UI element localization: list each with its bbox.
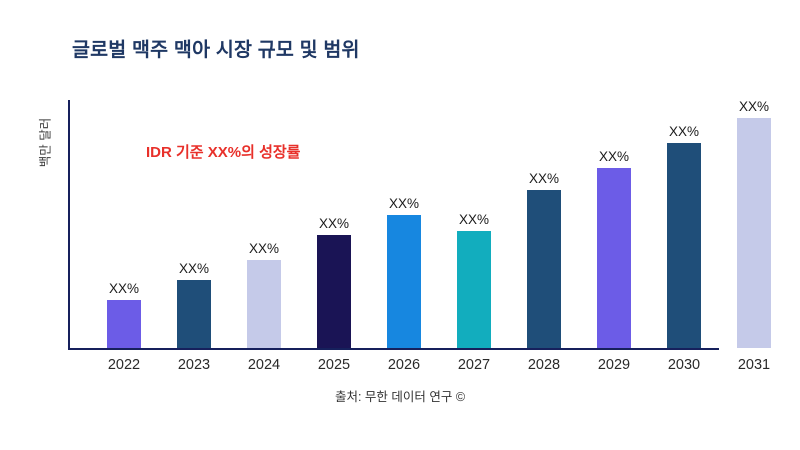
x-axis-label-2022: 2022	[89, 355, 159, 375]
bar-group: XX%	[649, 125, 719, 349]
x-axis-label-2028: 2028	[509, 355, 579, 375]
x-axis-label-2023: 2023	[159, 355, 229, 375]
bar-value-label: XX%	[179, 262, 209, 276]
bar-group: XX%	[579, 150, 649, 349]
bar-2029[interactable]	[597, 168, 631, 348]
x-axis-label-2029: 2029	[579, 355, 649, 375]
bar-group: XX%	[89, 282, 159, 349]
bar-value-label: XX%	[249, 242, 279, 256]
x-axis-label-2030: 2030	[649, 355, 719, 375]
bar-group: XX%	[439, 213, 509, 349]
x-axis-label-2026: 2026	[369, 355, 439, 375]
bar-2028[interactable]	[527, 190, 561, 348]
bar-value-label: XX%	[599, 150, 629, 164]
chart-container: 글로벌 맥주 맥아 시장 규모 및 범위 IDR 기준 XX%의 성장률 백만 …	[0, 0, 800, 450]
bar-2022[interactable]	[107, 300, 141, 348]
bar-2023[interactable]	[177, 280, 211, 348]
bar-2031[interactable]	[737, 118, 771, 348]
x-axis-label-2025: 2025	[299, 355, 369, 375]
bar-value-label: XX%	[459, 213, 489, 227]
bars-layer: XX%XX%XX%XX%XX%XX%XX%XX%XX%XX%	[0, 0, 800, 450]
bar-group: XX%	[369, 197, 439, 349]
bar-value-label: XX%	[739, 100, 769, 114]
x-axis-label-2031: 2031	[719, 355, 789, 375]
source-note: 출처: 무한 데이터 연구 ©	[0, 386, 800, 405]
bar-2025[interactable]	[317, 235, 351, 348]
bar-2026[interactable]	[387, 215, 421, 348]
bar-group: XX%	[159, 262, 229, 349]
bar-2030[interactable]	[667, 143, 701, 348]
bar-value-label: XX%	[669, 125, 699, 139]
bar-2024[interactable]	[247, 260, 281, 348]
bar-value-label: XX%	[319, 217, 349, 231]
bar-group: XX%	[299, 217, 369, 349]
bar-group: XX%	[509, 172, 579, 349]
x-axis-label-2024: 2024	[229, 355, 299, 375]
bar-2027[interactable]	[457, 231, 491, 348]
bar-value-label: XX%	[389, 197, 419, 211]
bar-group: XX%	[229, 242, 299, 349]
bar-group: XX%	[719, 100, 789, 349]
x-axis-tick-labels: 2022202320242025202620272028202920302031	[0, 355, 800, 377]
bar-value-label: XX%	[109, 282, 139, 296]
bar-value-label: XX%	[529, 172, 559, 186]
x-axis-label-2027: 2027	[439, 355, 509, 375]
